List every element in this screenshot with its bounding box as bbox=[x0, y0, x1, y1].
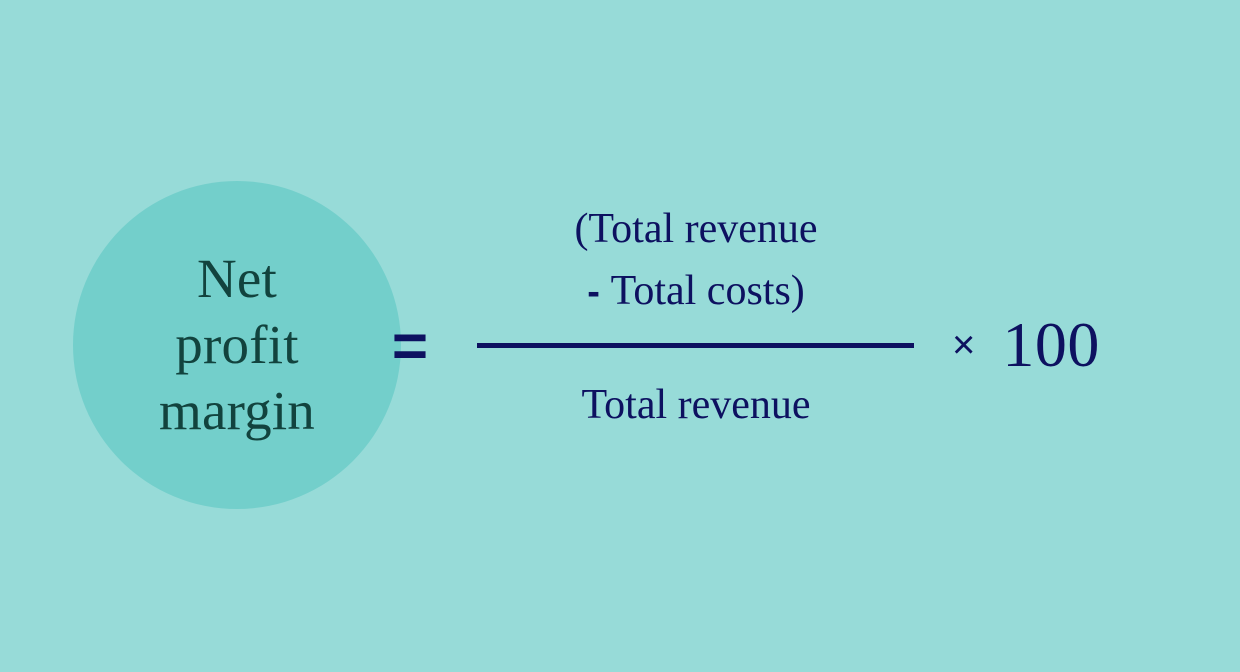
fraction-numerator: (Total revenue - Total costs) bbox=[455, 198, 937, 323]
multiplier-value: 100 bbox=[1002, 306, 1100, 384]
numerator-line-2: - Total costs) bbox=[455, 260, 937, 323]
fraction-expression: (Total revenue - Total costs) bbox=[455, 198, 937, 323]
fraction-bar bbox=[477, 343, 914, 348]
multiplier-expression: × 100 bbox=[952, 306, 1100, 384]
formula-canvas: Net profit margin = (Total revenue - Tot… bbox=[0, 0, 1240, 672]
minus-sign-icon: - bbox=[587, 271, 601, 313]
term-label-line-2: profit bbox=[175, 312, 298, 378]
formula-term-label: Net profit margin bbox=[73, 181, 401, 509]
equals-sign: = bbox=[386, 316, 434, 378]
term-label-line-1: Net bbox=[197, 246, 277, 312]
multiply-icon: × bbox=[952, 306, 975, 384]
term-label-line-3: margin bbox=[159, 378, 315, 444]
numerator-line-1: (Total revenue bbox=[455, 198, 937, 260]
numerator-line-2-text: Total costs) bbox=[611, 268, 805, 314]
fraction-denominator: Total revenue bbox=[455, 374, 937, 436]
